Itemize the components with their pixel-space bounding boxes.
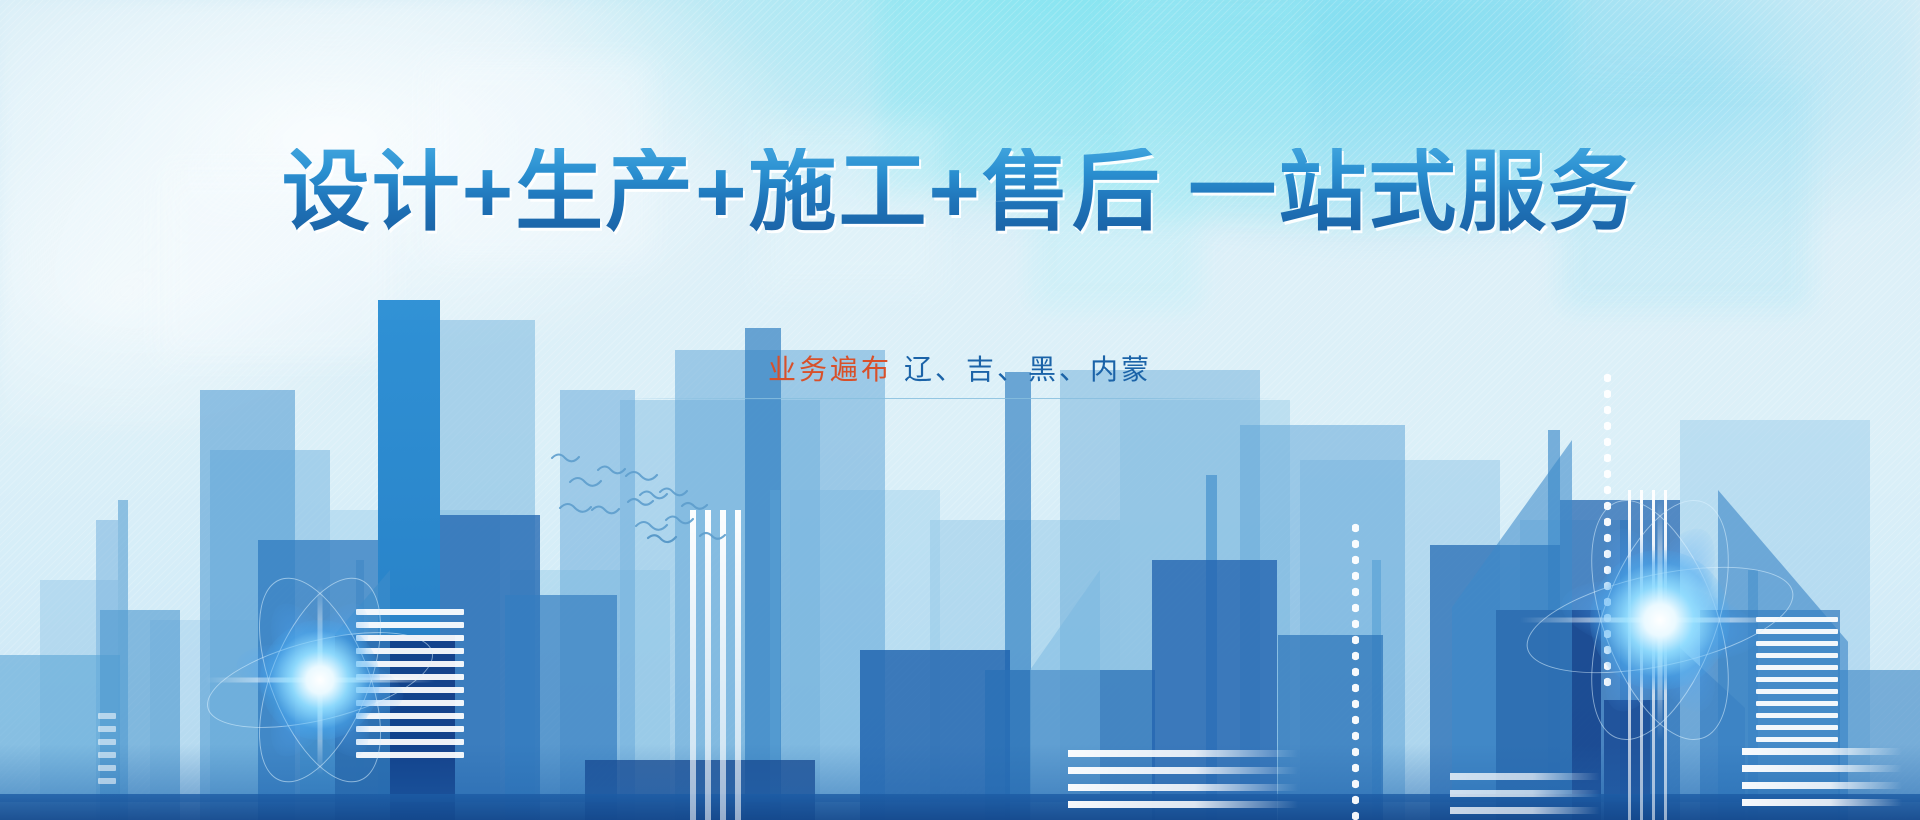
page-title: 设计+生产+施工+售后 一站式服务 bbox=[0, 148, 1920, 236]
dotted-tower-line-center bbox=[1352, 520, 1359, 820]
subtitle-region: 辽、吉、黑、内蒙 bbox=[904, 354, 1152, 385]
light-bars-right bbox=[1628, 490, 1667, 820]
bird-solo bbox=[645, 530, 679, 552]
cityscape-illustration bbox=[0, 260, 1920, 820]
window-ladder-right bbox=[1756, 617, 1838, 742]
light-sheet-right bbox=[1742, 748, 1902, 806]
bird-flock bbox=[540, 440, 740, 570]
subtitle-accent: 业务遍布 bbox=[768, 354, 892, 385]
window-ladder-main bbox=[356, 609, 464, 758]
subtitle-divider bbox=[620, 398, 1280, 399]
promo-banner: 设计+生产+施工+售后 一站式服务 业务遍布辽、吉、黑、内蒙 bbox=[0, 0, 1920, 820]
subtitle: 业务遍布辽、吉、黑、内蒙 bbox=[0, 348, 1920, 388]
light-sheet-center bbox=[1068, 750, 1298, 808]
light-sheet-far-right bbox=[1450, 773, 1600, 814]
dotted-tower-line-right bbox=[1604, 370, 1611, 690]
window-ladder-left bbox=[98, 713, 116, 784]
